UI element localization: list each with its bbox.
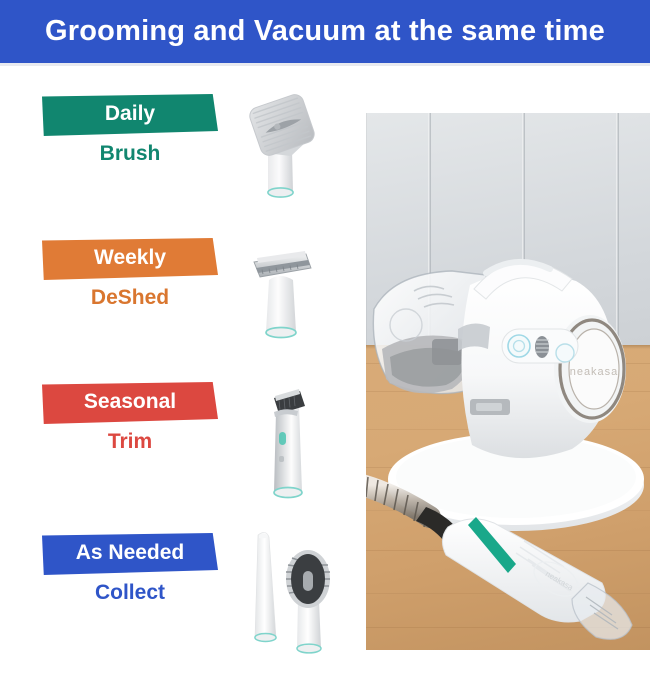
status-badge: Daily [42, 94, 218, 136]
grooming-brush-attachment-icon [236, 88, 356, 238]
step-tag-label: Daily [105, 102, 155, 126]
steps-column: Daily Brush [0, 66, 366, 650]
step-row: Weekly DeShed [0, 238, 366, 384]
svg-text:neakasa: neakasa [570, 366, 619, 378]
page-title: Grooming and Vacuum at the same time [45, 15, 605, 48]
status-badge: Weekly [42, 238, 218, 280]
step-label-block: Daily Brush [42, 94, 224, 166]
step-row: Daily Brush [0, 94, 366, 240]
step-sub-label: Trim [42, 430, 218, 454]
step-label-block: Weekly DeShed [42, 238, 224, 310]
clipper-trimmer-attachment-icon [236, 376, 356, 526]
product-photo: neakasa [366, 113, 650, 650]
step-tag-label: Seasonal [84, 390, 176, 414]
step-sub-label: Collect [42, 581, 218, 605]
step-tag-label: Weekly [94, 246, 166, 270]
step-label-block: As Needed Collect [42, 533, 224, 605]
step-sub-label: DeShed [42, 286, 218, 310]
vacuum-unit-illustration: neakasa [366, 113, 650, 650]
step-sub-label: Brush [42, 142, 218, 166]
status-badge: As Needed [42, 533, 218, 575]
status-badge: Seasonal [42, 382, 218, 424]
infographic-page: Grooming and Vacuum at the same time Dai… [0, 0, 650, 650]
crevice-nozzle-and-round-brush-attachment-icon [236, 517, 356, 667]
step-row: Seasonal Trim [0, 382, 366, 528]
deshedding-comb-attachment-icon [236, 232, 356, 382]
step-tag-label: As Needed [76, 541, 185, 565]
header-banner: Grooming and Vacuum at the same time [0, 0, 650, 63]
step-label-block: Seasonal Trim [42, 382, 224, 454]
step-row: As Needed Collect [0, 521, 366, 667]
